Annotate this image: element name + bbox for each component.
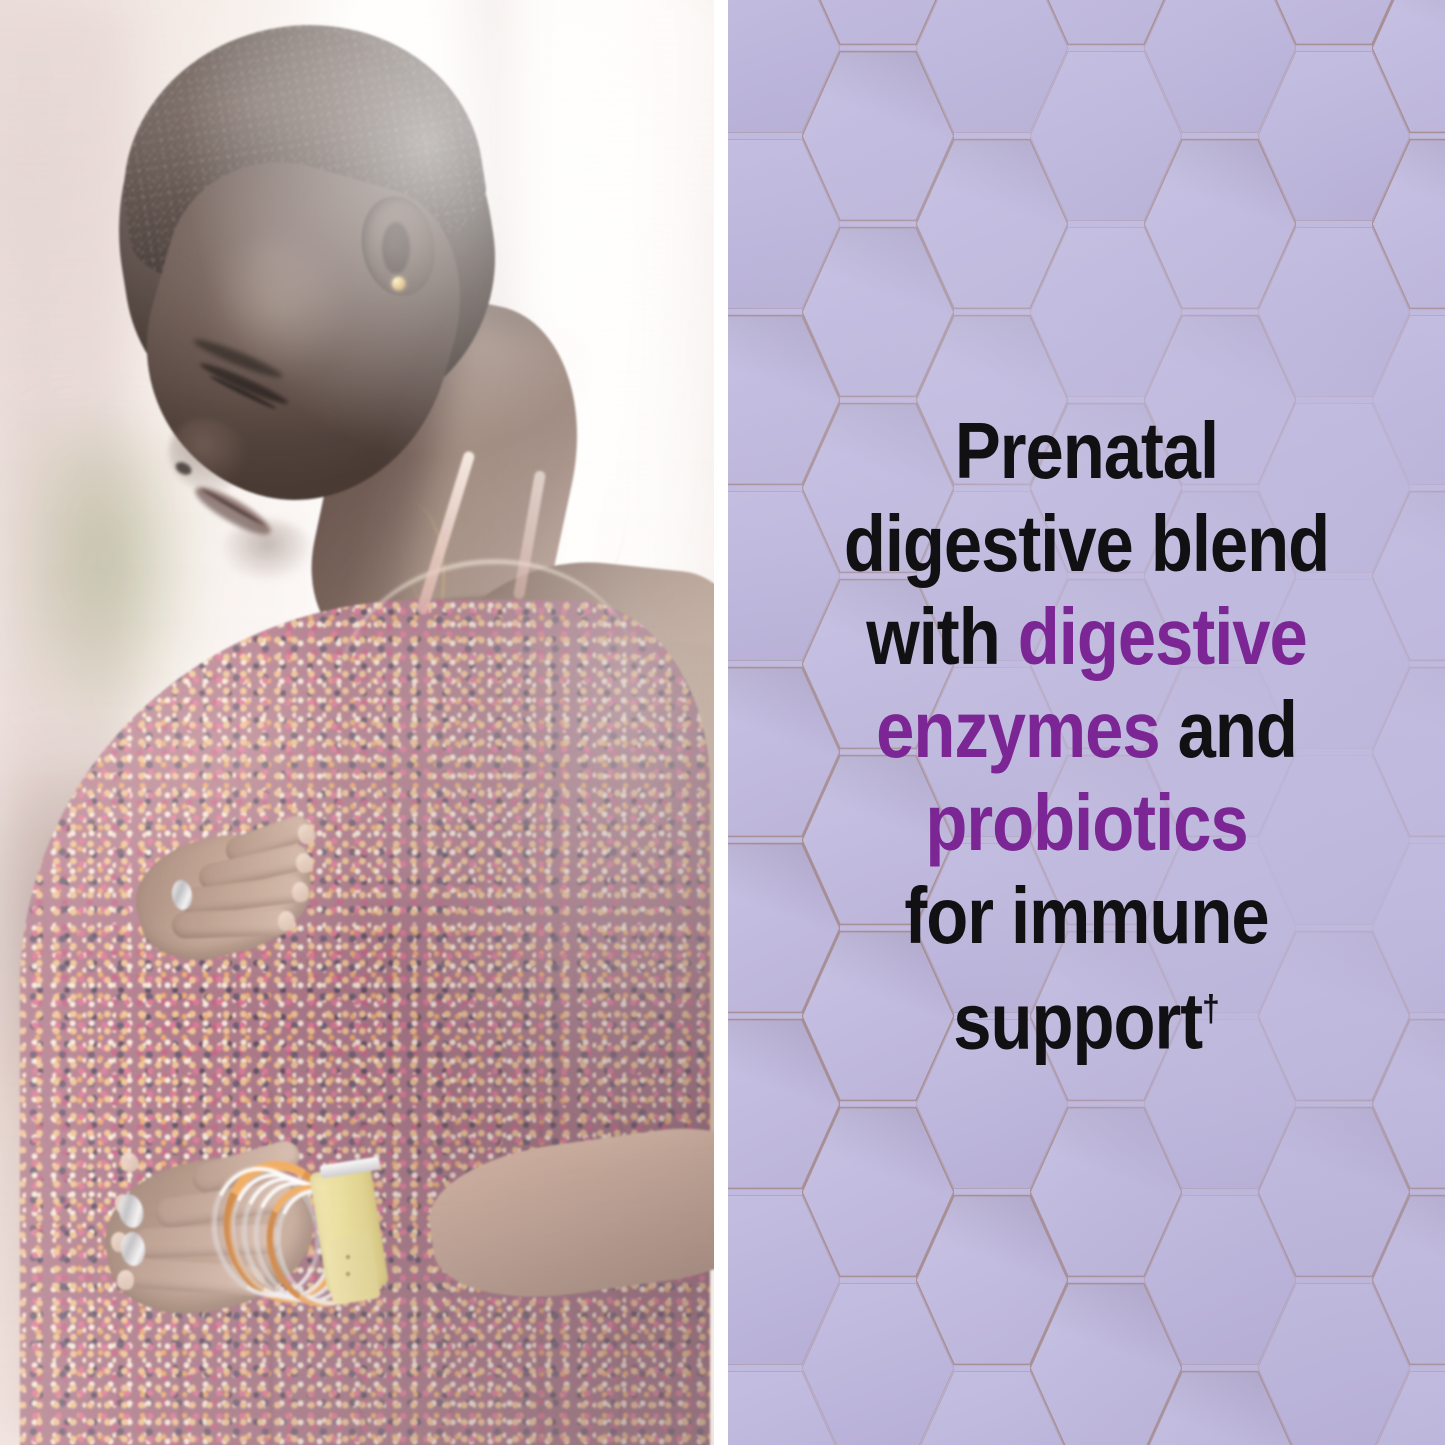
finger — [172, 908, 293, 939]
headline-line-5: probiotics — [778, 776, 1395, 869]
panel-divider — [714, 0, 728, 1445]
headline-line-6: for immune — [778, 869, 1395, 962]
fingernail — [117, 1149, 142, 1175]
headline-line-4: enzymes and — [778, 683, 1395, 776]
headline-accent-text: probiotics — [925, 778, 1247, 867]
headline-accent-text: enzymes — [876, 685, 1159, 774]
hexagon-tile — [916, 1368, 1068, 1445]
hexagon-seam — [1372, 1368, 1445, 1445]
hexagon-tile — [1144, 1368, 1296, 1445]
hexagon-tile — [1372, 1368, 1445, 1445]
headline-text-segment: Prenatal — [955, 406, 1218, 495]
hexagon-seam — [728, 1368, 840, 1445]
gold-stud-earring — [392, 277, 405, 290]
watch-strap-tail — [323, 1233, 381, 1306]
hexagon-tile — [1372, 0, 1445, 136]
hexagon-seam — [1144, 1368, 1296, 1445]
headline-line-2: digestive blend — [778, 497, 1395, 590]
woman-figure — [0, 0, 714, 1445]
upper-hand-on-belly — [128, 820, 318, 960]
headline-text-segment: support — [953, 977, 1202, 1066]
headline-text: Prenataldigestive blendwith digestiveenz… — [778, 404, 1395, 1068]
hexagon-tile — [1372, 136, 1445, 312]
headline-text-segment: with — [866, 592, 1018, 681]
headline-text-segment: and — [1160, 685, 1297, 774]
fingernail — [117, 1270, 135, 1291]
headline-line-1: Prenatal — [778, 404, 1395, 497]
headline-line-3: with digestive — [778, 590, 1395, 683]
footnote-marker: † — [1202, 988, 1220, 1029]
ear-canal — [382, 222, 410, 274]
hexagon-tile — [728, 1368, 840, 1445]
hexagon-seam — [1372, 0, 1445, 136]
product-feature-graphic: Prenataldigestive blendwith digestiveenz… — [0, 0, 1445, 1445]
hexagon-seam — [1372, 136, 1445, 312]
lifestyle-photo-pregnant-woman — [0, 0, 714, 1445]
headline-line-7: support† — [778, 962, 1395, 1068]
hexagon-seam — [916, 1368, 1068, 1445]
headline-text-segment: for immune — [904, 871, 1268, 960]
hexagon-seam — [1372, 1192, 1445, 1368]
headline-text-segment: digestive blend — [844, 499, 1329, 588]
headline-accent-text: digestive — [1018, 592, 1307, 681]
chin — [222, 520, 312, 580]
hexagon-tile — [1372, 1192, 1445, 1368]
fingernail — [278, 911, 296, 932]
